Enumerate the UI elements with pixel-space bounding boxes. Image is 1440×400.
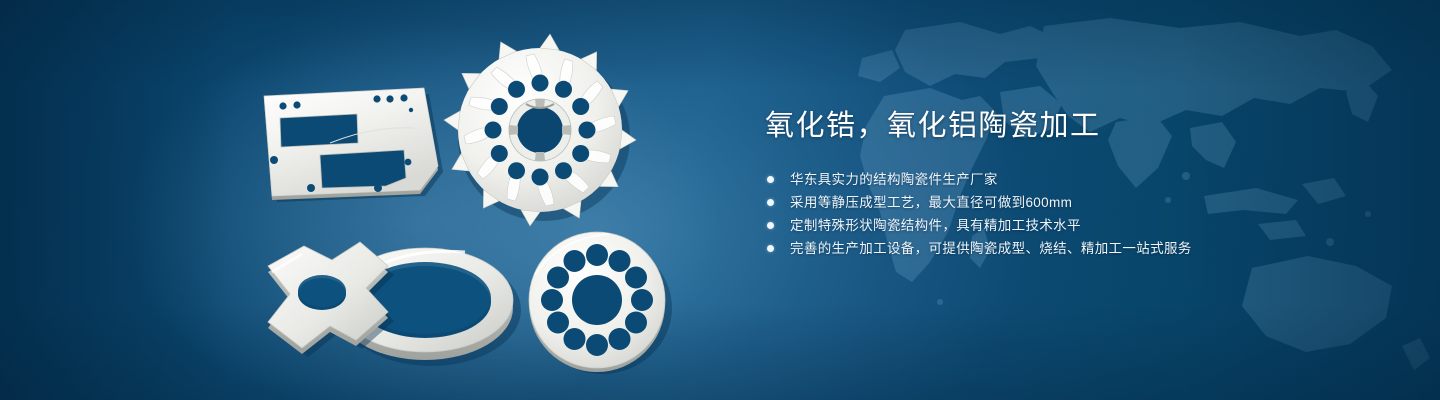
- list-item: 完善的生产加工设备，可提供陶瓷成型、烧结、精加工一站式服务: [765, 237, 1365, 260]
- list-item: 定制特殊形状陶瓷结构件，具有精加工技术水平: [765, 214, 1365, 237]
- page-title: 氧化锆，氧化铝陶瓷加工: [765, 106, 1365, 146]
- banner-copy: 氧化锆，氧化铝陶瓷加工 华东具实力的结构陶瓷件生产厂家 采用等静压成型工艺，最大…: [765, 106, 1365, 260]
- ceramic-ring: [337, 248, 521, 366]
- bullet-dot-icon: [767, 199, 774, 206]
- list-item: 采用等静压成型工艺，最大直径可做到600mm: [765, 191, 1365, 214]
- list-item-label: 完善的生产加工设备，可提供陶瓷成型、烧结、精加工一站式服务: [790, 241, 1192, 256]
- bullet-dot-icon: [767, 245, 774, 252]
- list-item-label: 华东具实力的结构陶瓷件生产厂家: [790, 172, 998, 187]
- list-item: 华东具实力的结构陶瓷件生产厂家: [765, 168, 1365, 191]
- bullet-dot-icon: [767, 176, 774, 183]
- feature-list: 华东具实力的结构陶瓷件生产厂家 采用等静压成型工艺，最大直径可做到600mm 定…: [765, 168, 1365, 260]
- bullet-dot-icon: [767, 222, 774, 229]
- list-item-label: 采用等静压成型工艺，最大直径可做到600mm: [790, 195, 1072, 210]
- ceramic-cross-part: [268, 242, 394, 357]
- ceramic-machined-plate: [264, 88, 443, 202]
- ceramic-impeller-disc: [444, 34, 636, 226]
- hero-banner: 氧化锆，氧化铝陶瓷加工 华东具实力的结构陶瓷件生产厂家 采用等静压成型工艺，最大…: [0, 0, 1440, 400]
- ceramic-products-image: [0, 0, 740, 400]
- ceramic-hole-plate: [529, 232, 672, 374]
- list-item-label: 定制特殊形状陶瓷结构件，具有精加工技术水平: [790, 218, 1081, 233]
